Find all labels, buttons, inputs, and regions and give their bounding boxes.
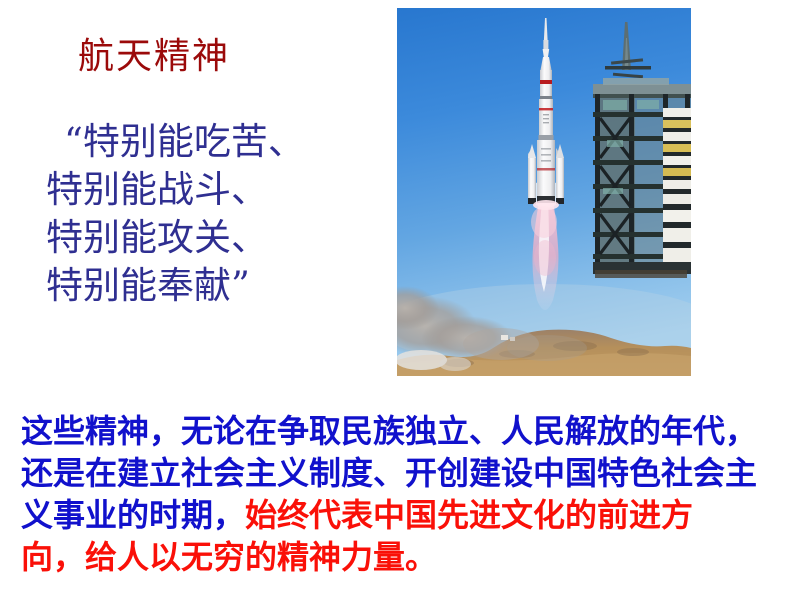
paragraph-line-1: 这些精神，无论在争取民族独立、人民解放的年代， [21,410,781,452]
slide-title: 航天精神 [78,36,230,78]
quote-block: “特别能吃苦、 特别能战斗、 特别能攻关、 特别能奉献” [46,118,376,310]
quote-line-2: 特别能战斗、 [46,166,376,214]
paragraph-line-2: 还是在建立社会主义制度、开创建设中国特色社会主 [21,452,781,494]
paragraph-segment: 还是在建立社会主义制度、开创建设中国特色社会主 [21,454,757,492]
paragraph-segment: 义事业的时期， [21,496,245,534]
paragraph-segment: 这些精神，无论在争取民族独立、人民解放的年代， [21,412,757,450]
paragraph-segment-highlight: 向，给人以无穷的精神力量。 [21,538,437,576]
quote-line-3: 特别能攻关、 [46,214,376,262]
quote-line-1: “特别能吃苦、 [46,118,376,166]
presentation-slide: 航天精神 “特别能吃苦、 特别能战斗、 特别能攻关、 特别能奉献” [0,0,790,599]
body-paragraph: 这些精神，无论在争取民族独立、人民解放的年代， 还是在建立社会主义制度、开创建设… [21,410,781,578]
quote-line-4: 特别能奉献” [46,262,376,310]
paragraph-line-3: 义事业的时期，始终代表中国先进文化的前进方 [21,494,781,536]
paragraph-segment-highlight: 始终代表中国先进文化的前进方 [245,496,693,534]
paragraph-line-4: 向，给人以无穷的精神力量。 [21,536,781,578]
rocket-launch-photo [397,8,691,376]
